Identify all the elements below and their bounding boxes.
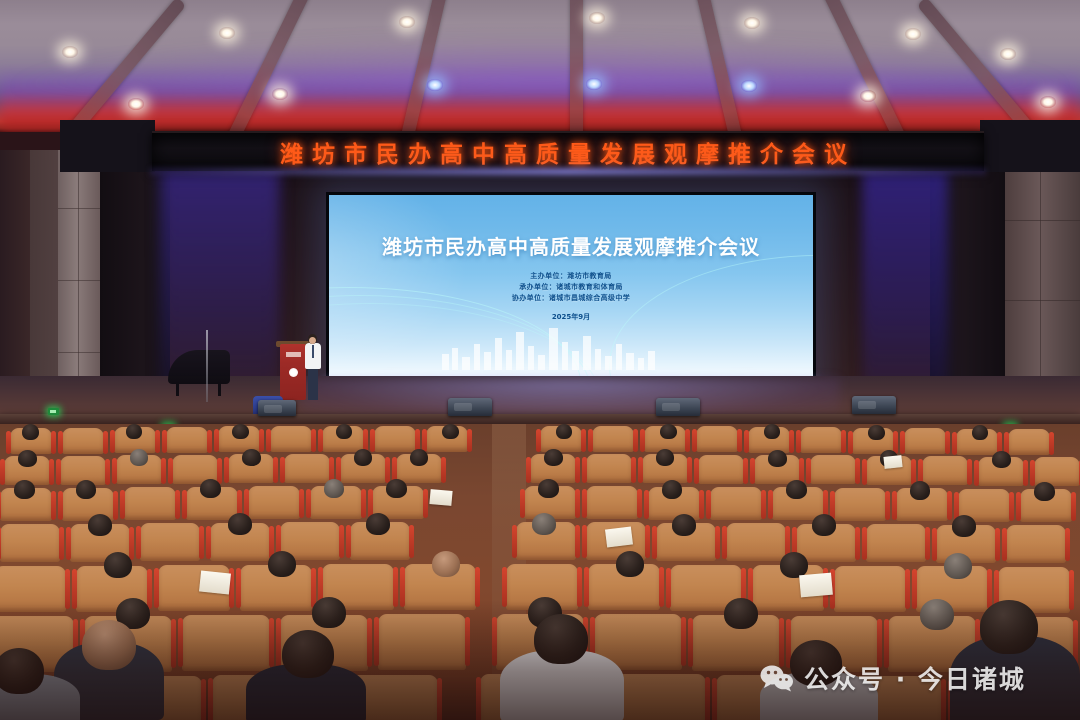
ceiling-spotlight bbox=[586, 78, 602, 90]
slide-organizer-line: 协办单位：诸城市昌城综合高级中学 bbox=[329, 293, 813, 303]
attendee-head bbox=[786, 480, 807, 499]
presenter bbox=[305, 334, 321, 400]
ceiling-spotlight bbox=[219, 27, 235, 39]
seat bbox=[726, 523, 786, 561]
slide-title: 潍坊市民办高中高质量发展观摩推介会议 bbox=[329, 231, 813, 260]
attendee-head bbox=[0, 648, 44, 694]
attendee-head bbox=[616, 551, 644, 577]
attendee-head bbox=[282, 630, 334, 678]
seat bbox=[810, 455, 856, 484]
attendee-head bbox=[18, 450, 37, 467]
attendee-head bbox=[910, 481, 930, 500]
seat bbox=[586, 454, 632, 483]
stage-monitor-speaker bbox=[448, 398, 492, 416]
attendee-head bbox=[724, 598, 758, 629]
seat bbox=[834, 566, 906, 612]
attendee-head bbox=[920, 599, 954, 630]
seat bbox=[62, 428, 104, 454]
seat bbox=[922, 456, 968, 485]
slide-organizer-line: 承办单位：诸城市教育和体育局 bbox=[329, 282, 813, 292]
stage-monitor-speaker bbox=[258, 400, 296, 416]
exit-sign bbox=[48, 408, 59, 415]
attendee-head bbox=[992, 451, 1011, 468]
podium-emblem bbox=[289, 368, 298, 377]
attendee-head bbox=[130, 449, 148, 466]
seat bbox=[166, 427, 208, 453]
attendee-head bbox=[672, 514, 696, 536]
podium-nameplate bbox=[286, 352, 301, 357]
watermark-text: 公众号 · 今日诸城 bbox=[804, 660, 1026, 696]
seat bbox=[866, 524, 926, 562]
attendee-head bbox=[324, 479, 344, 498]
ceiling-rib bbox=[570, 0, 583, 132]
attendee-head bbox=[104, 552, 132, 578]
attendee-head bbox=[432, 551, 460, 577]
auditorium-photo: 潍坊市民办高中高质量发展观摩推介会议 bbox=[0, 0, 1080, 720]
document-page bbox=[199, 570, 231, 594]
attendee-head bbox=[544, 449, 563, 466]
attendee-head bbox=[268, 551, 296, 577]
attendee-head bbox=[768, 450, 787, 467]
seat bbox=[374, 426, 416, 452]
ceiling-spotlight bbox=[741, 80, 757, 92]
attendee-head bbox=[538, 479, 559, 498]
attendee-head bbox=[354, 449, 372, 466]
ceiling-spotlight bbox=[860, 90, 876, 102]
seat bbox=[248, 486, 300, 519]
attendee-head bbox=[14, 480, 35, 499]
attendee-head bbox=[442, 424, 459, 439]
attendee-head bbox=[200, 479, 221, 498]
attendee-head bbox=[972, 425, 988, 440]
attendee-head bbox=[242, 449, 261, 466]
ceiling-spotlight bbox=[62, 46, 78, 58]
banner-right-panel bbox=[980, 120, 1080, 172]
seat bbox=[904, 428, 946, 454]
stage-monitor-speaker bbox=[656, 398, 700, 416]
attendee-head bbox=[366, 513, 390, 535]
attendee-head bbox=[88, 514, 112, 536]
attendee-head bbox=[126, 424, 142, 439]
stage-monitor-speaker bbox=[852, 396, 896, 414]
ceiling-spotlight bbox=[589, 12, 605, 24]
attendee-head bbox=[812, 514, 836, 536]
seat bbox=[834, 488, 886, 521]
projection-screen: 潍坊市民办高中高质量发展观摩推介会议 主办单位：潍坊市教育局 承办单位：诸城市教… bbox=[329, 195, 813, 382]
seat bbox=[710, 487, 762, 520]
led-banner: 潍坊市民办高中高质量发展观摩推介会议 bbox=[152, 131, 984, 171]
slide-organizer-line: 主办单位：潍坊市教育局 bbox=[329, 271, 813, 281]
attendee-head bbox=[386, 479, 407, 498]
ceiling-spotlight bbox=[128, 98, 144, 110]
ceiling-spotlight bbox=[1040, 96, 1056, 108]
seat bbox=[1008, 429, 1050, 455]
document-page bbox=[883, 455, 902, 469]
skyline-graphic bbox=[432, 324, 672, 370]
attendee-head bbox=[410, 449, 428, 466]
seat bbox=[182, 615, 270, 671]
ceiling-spotlight bbox=[744, 17, 760, 29]
seat bbox=[698, 455, 744, 484]
attendee-head bbox=[868, 425, 885, 440]
attendee-head bbox=[556, 424, 572, 439]
document-page bbox=[429, 489, 452, 506]
ceiling-spotlight bbox=[427, 79, 443, 91]
attendee-head bbox=[662, 480, 682, 499]
ceiling-spotlight bbox=[1000, 48, 1016, 60]
watermark: 公众号 · 今日诸城 bbox=[760, 660, 1026, 696]
attendee-head bbox=[82, 620, 136, 670]
seat bbox=[378, 614, 466, 670]
ceiling-spotlight bbox=[905, 28, 921, 40]
ceiling-purple-glow bbox=[0, 34, 1080, 90]
wechat-icon bbox=[760, 664, 794, 692]
slide-date: 2025年9月 bbox=[329, 312, 813, 322]
attendee-head bbox=[980, 600, 1038, 654]
seat bbox=[270, 426, 312, 452]
led-banner-text: 潍坊市民办高中高质量发展观摩推介会议 bbox=[280, 135, 856, 169]
microphone-stand bbox=[206, 330, 208, 402]
attendee-head bbox=[1034, 482, 1055, 501]
attendee-head bbox=[312, 597, 346, 628]
seat bbox=[140, 523, 200, 561]
seat bbox=[1006, 525, 1066, 563]
ceiling-spotlight bbox=[399, 16, 415, 28]
document-page bbox=[799, 573, 833, 598]
seat bbox=[800, 427, 842, 453]
attendee-head bbox=[656, 449, 674, 466]
attendee-head bbox=[22, 424, 39, 440]
seat bbox=[592, 426, 634, 452]
attendee-head bbox=[336, 424, 352, 439]
attendee-head bbox=[76, 480, 96, 499]
led-strip-glow bbox=[150, 168, 986, 175]
document-page bbox=[605, 526, 633, 547]
ceiling bbox=[0, 0, 1080, 132]
seat bbox=[124, 487, 176, 520]
attendee-head bbox=[232, 424, 249, 439]
attendee-head bbox=[944, 553, 972, 579]
attendee-head bbox=[660, 424, 677, 439]
banner-left-panel bbox=[60, 120, 155, 172]
seat bbox=[284, 454, 330, 483]
seat bbox=[696, 426, 738, 452]
projection-screen-frame: 潍坊市民办高中高质量发展观摩推介会议 主办单位：潍坊市教育局 承办单位：诸城市教… bbox=[326, 192, 816, 385]
ceiling-spotlight bbox=[272, 88, 288, 100]
attendee-head bbox=[228, 513, 252, 535]
seat bbox=[0, 566, 66, 612]
attendee-head bbox=[534, 614, 588, 664]
attendee-head bbox=[532, 513, 556, 535]
seat bbox=[0, 524, 60, 562]
seat bbox=[586, 486, 638, 519]
attendee-head bbox=[764, 424, 780, 439]
attendee-head bbox=[952, 515, 976, 537]
